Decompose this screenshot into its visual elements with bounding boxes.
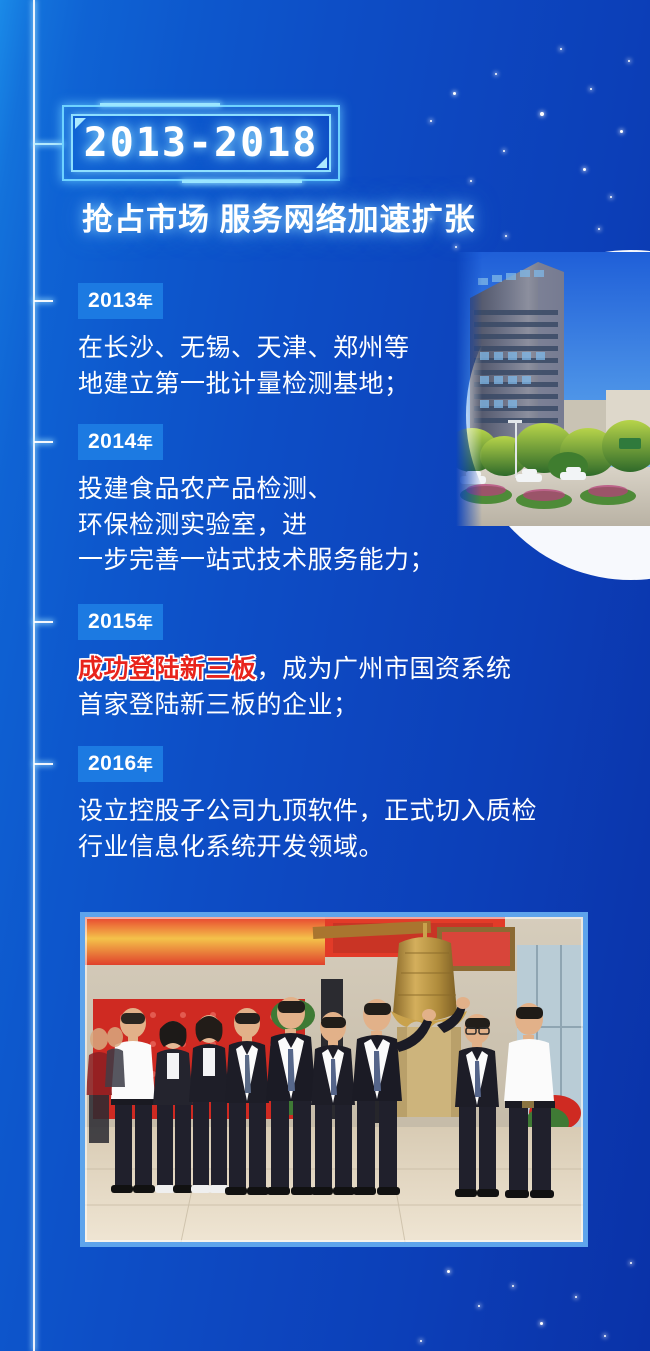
year-badge-2016: 2016年 [78, 746, 163, 782]
year-value: 2016 [88, 752, 137, 775]
entry-highlight-2015: 成功登陆新三板 [78, 655, 257, 683]
year-value: 2015 [88, 610, 137, 633]
entry-text-2016: 设立控股子公司九顶软件，正式切入质检 行业信息化系统开发领域。 [78, 794, 537, 865]
timeline-tick-2015 [34, 621, 53, 623]
year-suffix: 年 [137, 757, 154, 774]
year-badge-2015: 2015年 [78, 604, 163, 640]
infographic-page: 2013-2018 抢占市场 服务网络加速扩张 2013年 在长沙、无锡、天津、… [0, 0, 650, 1351]
timeline-tick-2016 [34, 763, 53, 765]
year-suffix: 年 [137, 435, 154, 452]
entry-text-2015: 成功登陆新三板，成为广州市国资系统 首家登陆新三板的企业； [78, 652, 512, 723]
year-value: 2013 [88, 289, 137, 312]
year-badge-2013: 2013年 [78, 283, 163, 319]
timeline-axis [33, 0, 35, 1351]
timeline-head-connector [34, 143, 63, 145]
timeline-entry-2013: 2013年 在长沙、无锡、天津、郑州等 地建立第一批计量检测基地； [78, 283, 410, 402]
year-value: 2014 [88, 430, 137, 453]
period-badge: 2013-2018 [62, 105, 340, 181]
timeline-entry-2015: 2015年 成功登陆新三板，成为广州市国资系统 首家登陆新三板的企业； [78, 604, 512, 723]
year-badge-2014: 2014年 [78, 424, 163, 460]
building-photo-illustration [456, 252, 650, 526]
timeline-tick-2014 [34, 441, 53, 443]
group-photo-illustration [85, 917, 583, 1242]
group-photo [80, 912, 588, 1247]
building-photo [456, 252, 650, 526]
page-title: 抢占市场 服务网络加速扩张 [82, 194, 476, 239]
year-suffix: 年 [137, 294, 154, 311]
timeline-entry-2016: 2016年 设立控股子公司九顶软件，正式切入质检 行业信息化系统开发领域。 [78, 746, 537, 865]
entry-text-2013: 在长沙、无锡、天津、郑州等 地建立第一批计量检测基地； [78, 331, 410, 402]
entry-text-2014: 投建食品农产品检测、 环保检测实验室，进 一步完善一站式技术服务能力； [78, 472, 435, 579]
period-badge-label: 2013-2018 [62, 105, 340, 181]
timeline-tick-2013 [34, 300, 53, 302]
year-suffix: 年 [137, 615, 154, 632]
timeline-entry-2014: 2014年 投建食品农产品检测、 环保检测实验室，进 一步完善一站式技术服务能力… [78, 424, 435, 579]
